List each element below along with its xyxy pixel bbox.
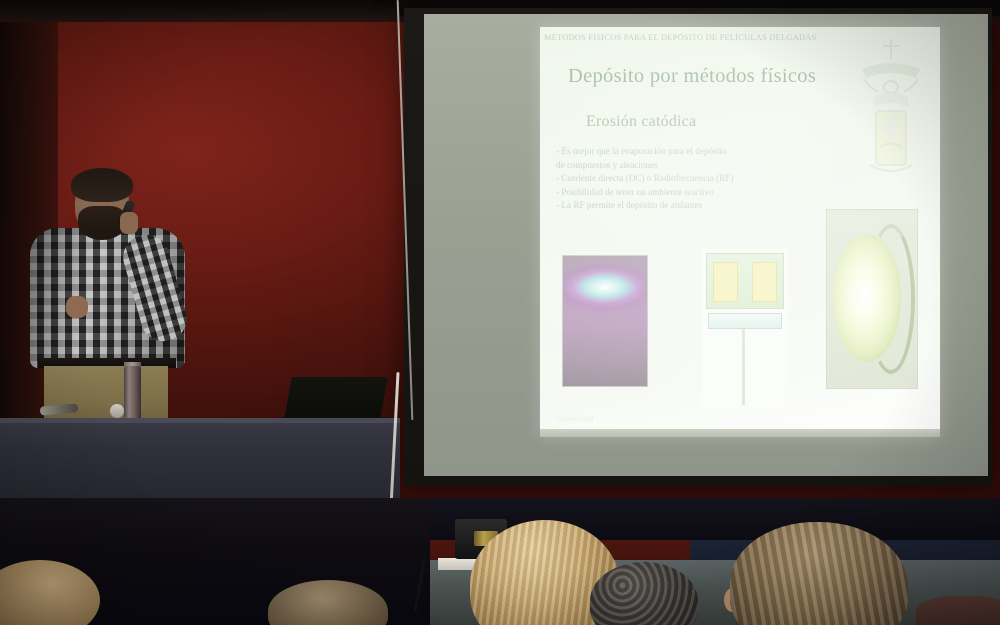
slide-bullet: de compuestos y aleaciones: [556, 159, 806, 173]
slide-footer: Universidad: [556, 415, 594, 423]
schematic-chamber: [706, 253, 784, 309]
projected-slide: MÉTODOS FÍSICOS PARA EL DEPÓSITO DE PELÍ…: [540, 27, 940, 437]
university-crest-icon: [852, 35, 930, 187]
laptop: [284, 377, 387, 419]
presenter: [20, 172, 195, 430]
slide-title: Depósito por métodos físicos: [568, 65, 816, 88]
slide-subtitle: Erosión catódica: [586, 113, 696, 131]
presenter-hair: [71, 168, 133, 202]
presenter-hand-right: [120, 212, 138, 234]
slide-bullet: - Es mejor que la evaporación para el de…: [556, 145, 806, 159]
slide-bullet-list: - Es mejor que la evaporación para el de…: [556, 145, 806, 213]
chamber-ring: [867, 224, 915, 374]
slide-bottom-bar: [540, 429, 940, 437]
magnetron-chamber-photo: [826, 209, 918, 389]
schematic-substrate: [708, 313, 782, 329]
presentation-photo-scene: MÉTODOS FÍSICOS PARA EL DEPÓSITO DE PELÍ…: [0, 0, 1000, 625]
slide-bullet: - Posibilidad de tener un ambiente react…: [556, 186, 806, 200]
slide-bullet: - La RF permite el depósito de aislantes: [556, 199, 806, 213]
audience-shoulder-right: [916, 596, 1000, 625]
schematic-electrode-left: [713, 262, 738, 302]
schematic-stand: [742, 329, 745, 405]
slide-bullet: - Corriente directa (DC) o Radiofrecuenc…: [556, 172, 806, 186]
thermos-bottle: [124, 366, 141, 422]
plasma-glow-photo: [562, 255, 648, 387]
table-edge: [0, 418, 400, 423]
sputtering-schematic: [702, 249, 788, 409]
presenter-hand-left: [66, 296, 88, 318]
cup: [110, 404, 124, 418]
schematic-electrode-right: [752, 262, 777, 302]
